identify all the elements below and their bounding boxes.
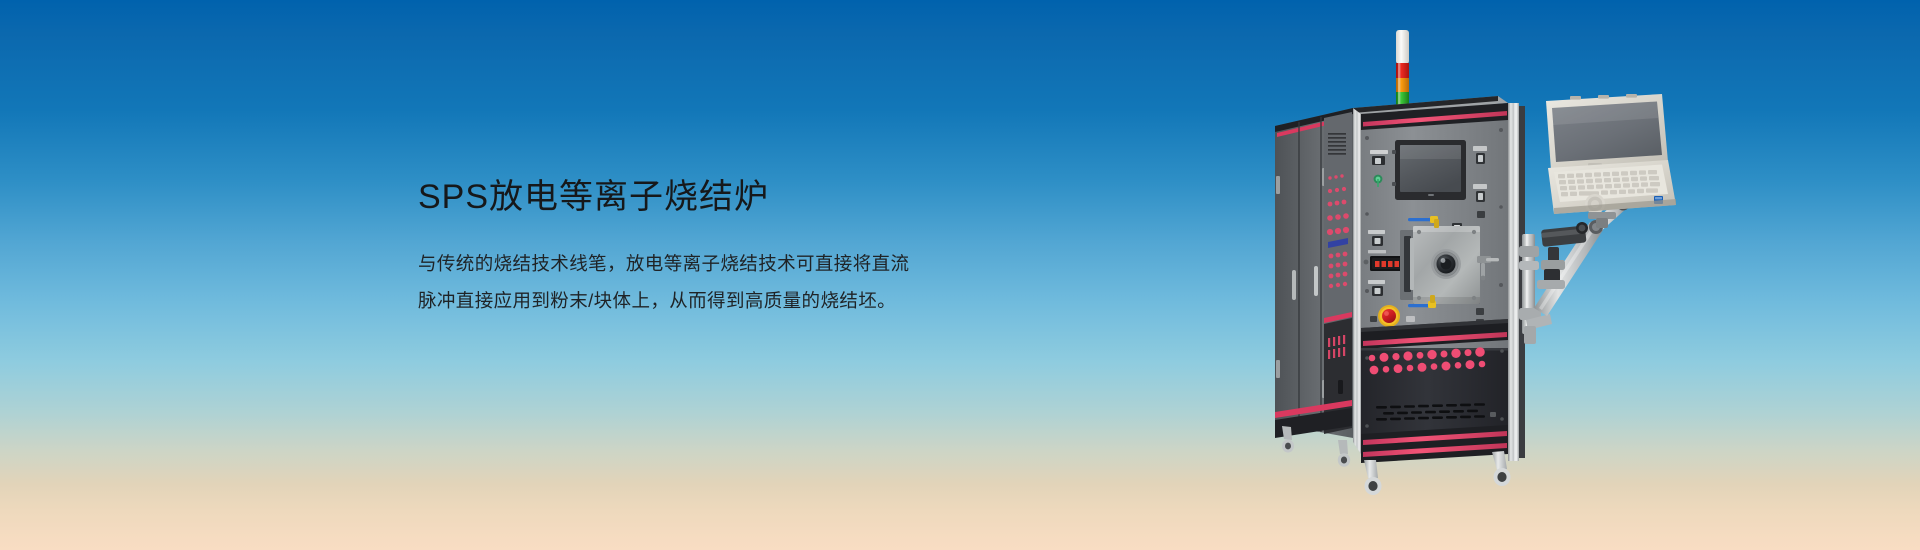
main-cabinet (1353, 96, 1525, 463)
control-panel (1361, 128, 1508, 327)
operator-laptop[interactable] (1546, 94, 1676, 228)
banner-text-block: SPS放电等离子烧结炉 与传统的烧结技术线笔，放电等离子烧结技术可直接将直流 脉… (418, 176, 1038, 319)
page-description-line-2: 脉冲直接应用到粉末/块体上，从而得到高质量的烧结坯。 (418, 282, 1018, 319)
hmi-touchscreen[interactable] (1392, 140, 1466, 200)
emergency-stop-button[interactable] (1378, 305, 1400, 327)
hero-banner: SPS放电等离子烧结炉 与传统的烧结技术线笔，放电等离子烧结技术可直接将直流 脉… (0, 0, 1920, 550)
page-title: SPS放电等离子烧结炉 (418, 176, 1038, 219)
page-description: 与传统的烧结技术线笔，放电等离子烧结技术可直接将直流 脉冲直接应用到粉末/块体上… (418, 245, 1018, 319)
side-cabinet (1275, 108, 1353, 438)
lower-access-panel[interactable] (1361, 347, 1508, 434)
chamber-viewport-window (1431, 249, 1461, 279)
furnace-illustration (1258, 8, 1688, 548)
page-description-line-1: 与传统的烧结技术线笔，放电等离子烧结技术可直接将直流 (418, 245, 1018, 282)
sps-sintering-furnace-photo (1258, 8, 1688, 548)
